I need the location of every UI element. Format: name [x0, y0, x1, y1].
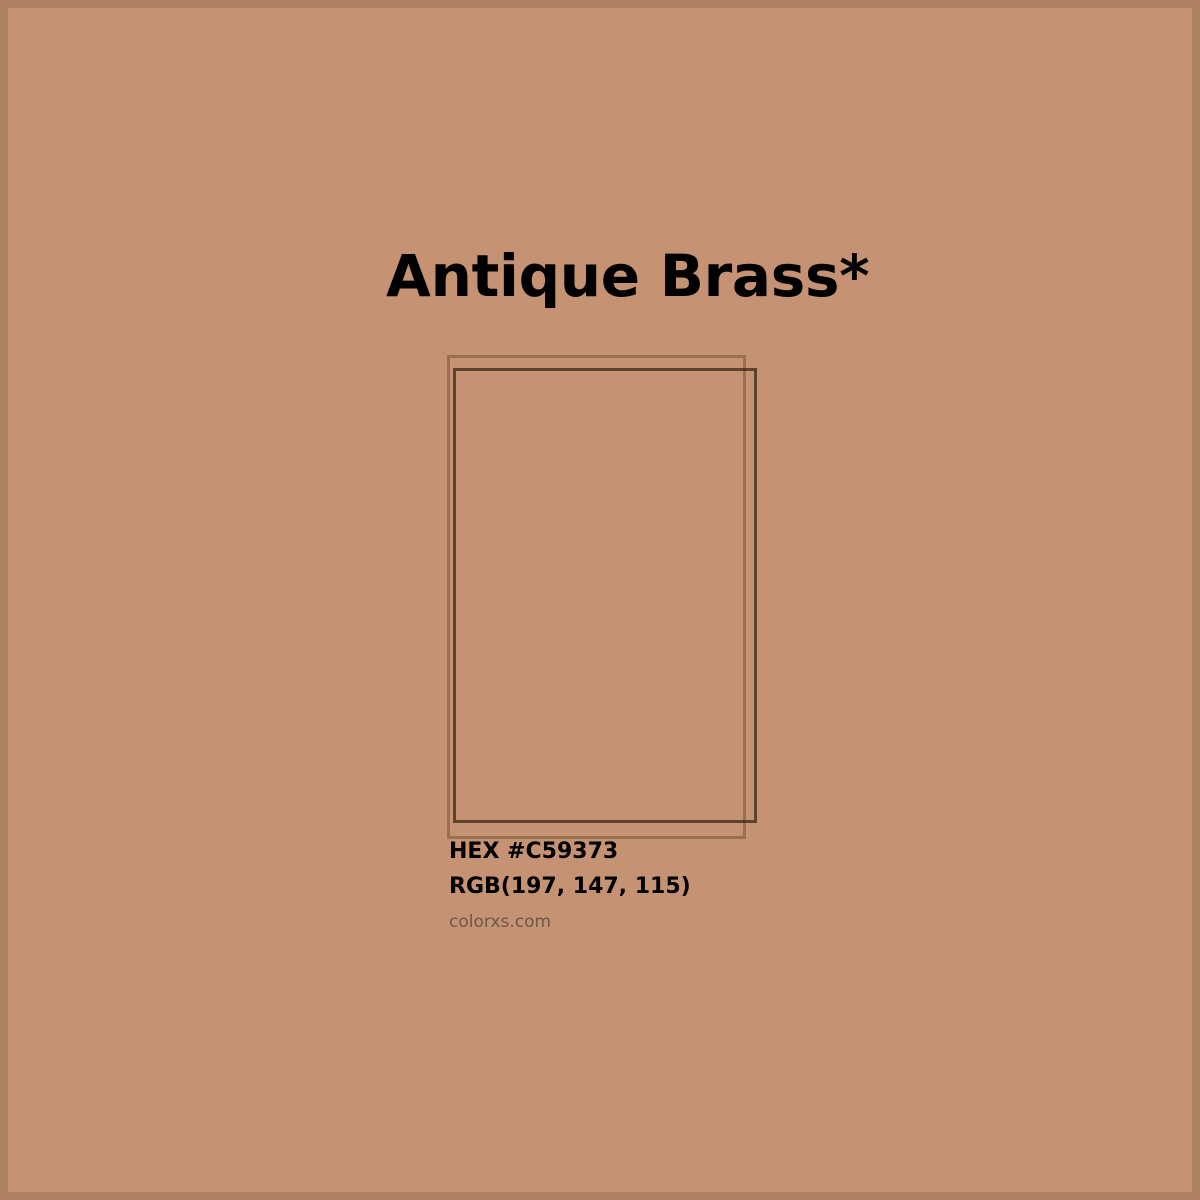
rgb-value-label: RGB(197, 147, 115) [449, 869, 869, 904]
page-title: Antique Brass* [386, 247, 869, 305]
color-swatch [440, 348, 770, 848]
swatch-outline-front [453, 368, 757, 823]
hex-value-label: HEX #C59373 [449, 834, 869, 869]
color-values: HEX #C59373 RGB(197, 147, 115) colorxs.c… [449, 834, 869, 933]
site-watermark: colorxs.com [449, 911, 869, 933]
color-card-page: Antique Brass* HEX #C59373 RGB(197, 147,… [0, 0, 1200, 1200]
